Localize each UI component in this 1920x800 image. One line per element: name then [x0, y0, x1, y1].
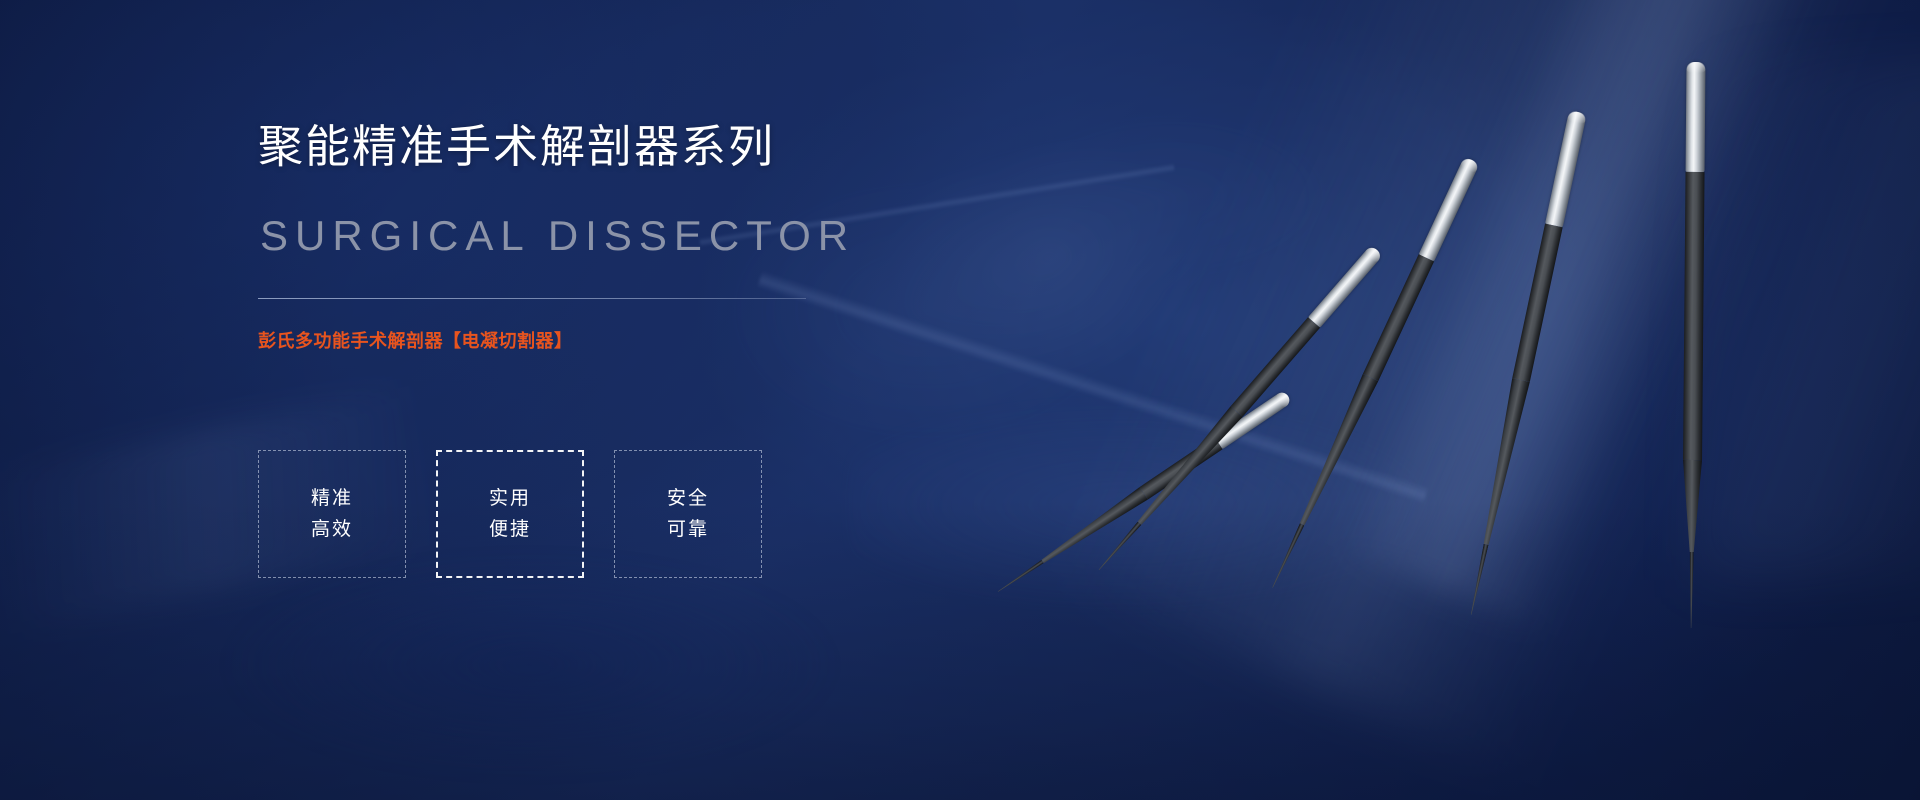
feature-badge-safety-line1: 安全 [667, 489, 709, 508]
feature-badge-practical[interactable]: 实用 便捷 [436, 450, 584, 578]
feature-badge-precision-line1: 精准 [311, 489, 353, 508]
feature-badge-practical-line1: 实用 [489, 489, 531, 508]
dissector-4-steel-cap [1308, 245, 1383, 328]
page-title: 聚能精准手术解剖器系列 [258, 124, 775, 169]
dissector-2-taper [1477, 378, 1531, 546]
banner-text-block: 聚能精准手术解剖器系列 SURGICAL DISSECTOR 彭氏多功能手术解剖… [258, 0, 878, 800]
dissector-1-shaft [1683, 172, 1705, 460]
dissector-1-taper [1682, 460, 1703, 552]
product-hero-banner: 聚能精准手术解剖器系列 SURGICAL DISSECTOR 彭氏多功能手术解剖… [0, 0, 1920, 800]
dissector-2-shaft [1512, 224, 1562, 382]
dissector-3-taper [1294, 374, 1379, 528]
surgical-dissector-group [1140, 0, 1920, 800]
feature-badge-group: 精准 高效 实用 便捷 安全 可靠 [258, 450, 762, 578]
dissector-3-shaft [1363, 254, 1434, 381]
dissector-4-taper [1133, 406, 1243, 529]
feature-badge-safety[interactable]: 安全 可靠 [614, 450, 762, 578]
feature-badge-practical-line2: 便捷 [489, 520, 531, 539]
horizontal-divider [258, 298, 806, 299]
page-subtitle-english: SURGICAL DISSECTOR [260, 215, 855, 257]
feature-badge-precision[interactable]: 精准 高效 [258, 450, 406, 578]
product-name-label: 彭氏多功能手术解剖器【电凝切割器】 [258, 332, 573, 350]
dissector-3-needle-tip [1270, 523, 1304, 589]
dissector-2-needle-tip [1469, 544, 1489, 615]
dissector-3-steel-cap [1419, 156, 1480, 261]
dissector-1-steel-cap [1686, 62, 1706, 172]
feature-badge-precision-line2: 高效 [311, 520, 353, 539]
dissector-2-steel-cap [1545, 110, 1587, 227]
dissector-1-needle-tip [1689, 552, 1694, 628]
feature-badge-safety-line2: 可靠 [667, 520, 709, 539]
